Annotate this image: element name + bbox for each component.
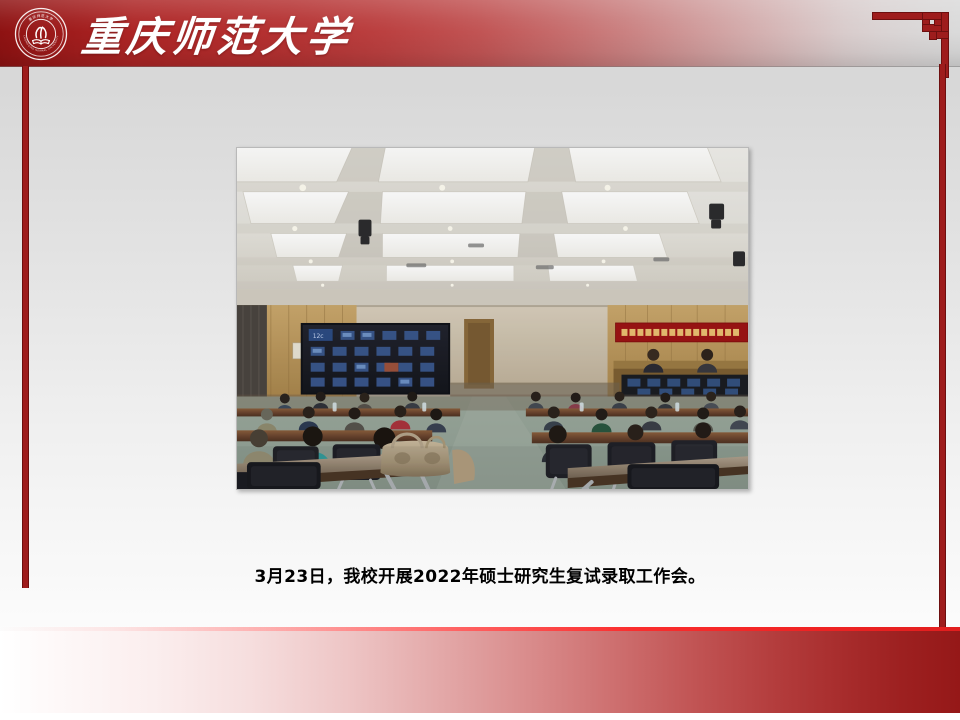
slide-footer-band — [0, 627, 960, 720]
corner-ornament-bottom-left-extension — [22, 66, 29, 588]
university-seal-icon: 重庆师范大学 CHONGQING NORMAL UNIVERSITY — [14, 7, 68, 61]
conference-photo-image: 12c — [237, 148, 748, 489]
university-name-title: 重庆师范大学 — [79, 2, 356, 64]
conference-photo: 12c — [236, 147, 749, 490]
slide-caption: 3月23日，我校开展2022年硕士研究生复试录取工作会。 — [0, 562, 960, 587]
header-divider — [0, 66, 960, 67]
presentation-slide: 重庆师范大学 CHONGQING NORMAL UNIVERSITY 重庆师范大… — [0, 0, 960, 720]
footer-base-strip — [0, 713, 960, 720]
footer-gradient-fill — [0, 631, 960, 713]
